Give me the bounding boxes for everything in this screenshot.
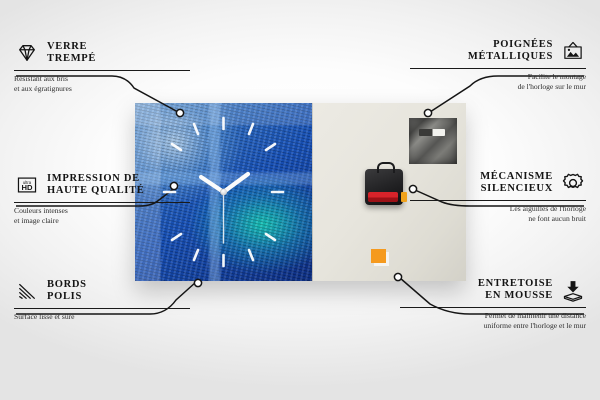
feature-subtitle: Permet de maintenir une distance uniform… — [400, 311, 586, 330]
feature-title-line2: MÉTALLIQUES — [468, 51, 553, 64]
feature-divider — [410, 68, 586, 69]
feature-title-line1: VERRE — [47, 41, 96, 54]
feature-subtitle-line2: et aux égratignures — [14, 84, 190, 94]
feature-title-line1: MÉCANISME — [480, 171, 553, 184]
feature-title: IMPRESSION DE HAUTE QUALITÉ — [47, 173, 145, 198]
feature-subtitle-line1: Surface lisse et sûre — [14, 312, 190, 322]
foam-spacer-icon — [560, 277, 586, 303]
feature-header: VERRE TREMPÉ — [14, 40, 190, 66]
feature-title-line1: IMPRESSION DE — [47, 173, 145, 186]
infographic-stage: VERRE TREMPÉ Résistant aux bris et aux é… — [0, 0, 600, 400]
feature-header: ultra HD IMPRESSION DE HAUTE QUALITÉ — [14, 172, 190, 198]
feature-impression-haute-qualite: ultra HD IMPRESSION DE HAUTE QUALITÉ Cou… — [14, 172, 190, 225]
feature-entretoise-en-mousse: ENTRETOISE EN MOUSSE Permet de maintenir… — [400, 277, 586, 330]
feature-divider — [14, 202, 190, 203]
polished-edge-icon — [14, 278, 40, 304]
feature-title: VERRE TREMPÉ — [47, 41, 96, 66]
feature-subtitle-line1: Permet de maintenir une distance — [400, 311, 586, 321]
battery-cap — [401, 192, 407, 202]
feature-title-line2: TREMPÉ — [47, 53, 96, 66]
feature-header: ENTRETOISE EN MOUSSE — [400, 277, 586, 303]
feature-title-line1: BORDS — [47, 279, 87, 292]
feature-poignees-metalliques: POIGNÉES MÉTALLIQUES Facilite le montage… — [410, 38, 586, 91]
feature-subtitle: Couleurs intenses et image claire — [14, 206, 190, 225]
feature-title: MÉCANISME SILENCIEUX — [480, 171, 553, 196]
feature-subtitle-line2: de l'horloge sur le mur — [410, 82, 586, 92]
feature-title-line2: POLIS — [47, 291, 87, 304]
feature-title-line2: HAUTE QUALITÉ — [47, 185, 145, 198]
feature-header: POIGNÉES MÉTALLIQUES — [410, 38, 586, 64]
feature-subtitle-line1: Couleurs intenses — [14, 206, 190, 216]
feature-title-line1: POIGNÉES — [468, 39, 553, 52]
feature-subtitle: Les aiguilles de l'horloge ne font aucun… — [410, 204, 586, 223]
feature-title: POIGNÉES MÉTALLIQUES — [468, 39, 553, 64]
feature-mecanisme-silencieux: MÉCANISME SILENCIEUX Les aiguilles de l'… — [410, 170, 586, 223]
feature-divider — [410, 200, 586, 201]
battery — [368, 192, 398, 202]
clock-hub — [221, 189, 227, 195]
feature-subtitle: Surface lisse et sûre — [14, 312, 190, 322]
feature-header: MÉCANISME SILENCIEUX — [410, 170, 586, 196]
feature-header: BORDS POLIS — [14, 278, 190, 304]
feature-subtitle-line1: Facilite le montage — [410, 72, 586, 82]
picture-frame-icon — [560, 38, 586, 64]
feature-title-line1: ENTRETOISE — [478, 278, 553, 291]
feature-subtitle: Facilite le montage de l'horloge sur le … — [410, 72, 586, 91]
feature-subtitle: Résistant aux bris et aux égratignures — [14, 74, 190, 93]
feature-subtitle-line2: ne font aucun bruit — [410, 214, 586, 224]
feature-title: BORDS POLIS — [47, 279, 87, 304]
svg-text:HD: HD — [21, 183, 33, 192]
feature-title-line2: EN MOUSSE — [478, 290, 553, 303]
feature-verre-trempe: VERRE TREMPÉ Résistant aux bris et aux é… — [14, 40, 190, 93]
feature-divider — [400, 307, 586, 308]
feature-bords-polis: BORDS POLIS Surface lisse et sûre — [14, 278, 190, 322]
handle-slot — [419, 129, 445, 136]
feature-subtitle-line1: Les aiguilles de l'horloge — [410, 204, 586, 214]
feature-divider — [14, 308, 190, 309]
metal-handle — [409, 118, 457, 164]
feature-title: ENTRETOISE EN MOUSSE — [478, 278, 553, 303]
ultra-hd-icon: ultra HD — [14, 172, 40, 198]
foam-spacer — [371, 249, 386, 263]
feature-subtitle-line2: et image claire — [14, 216, 190, 226]
feature-subtitle-line2: uniforme entre l'horloge et le mur — [400, 321, 586, 331]
feature-divider — [14, 70, 190, 71]
mechanism-hook — [377, 162, 395, 173]
clock-mechanism — [365, 169, 403, 205]
feature-title-line2: SILENCIEUX — [480, 183, 553, 196]
diamond-icon — [14, 40, 40, 66]
feature-subtitle-line1: Résistant aux bris — [14, 74, 190, 84]
gear-icon — [560, 170, 586, 196]
